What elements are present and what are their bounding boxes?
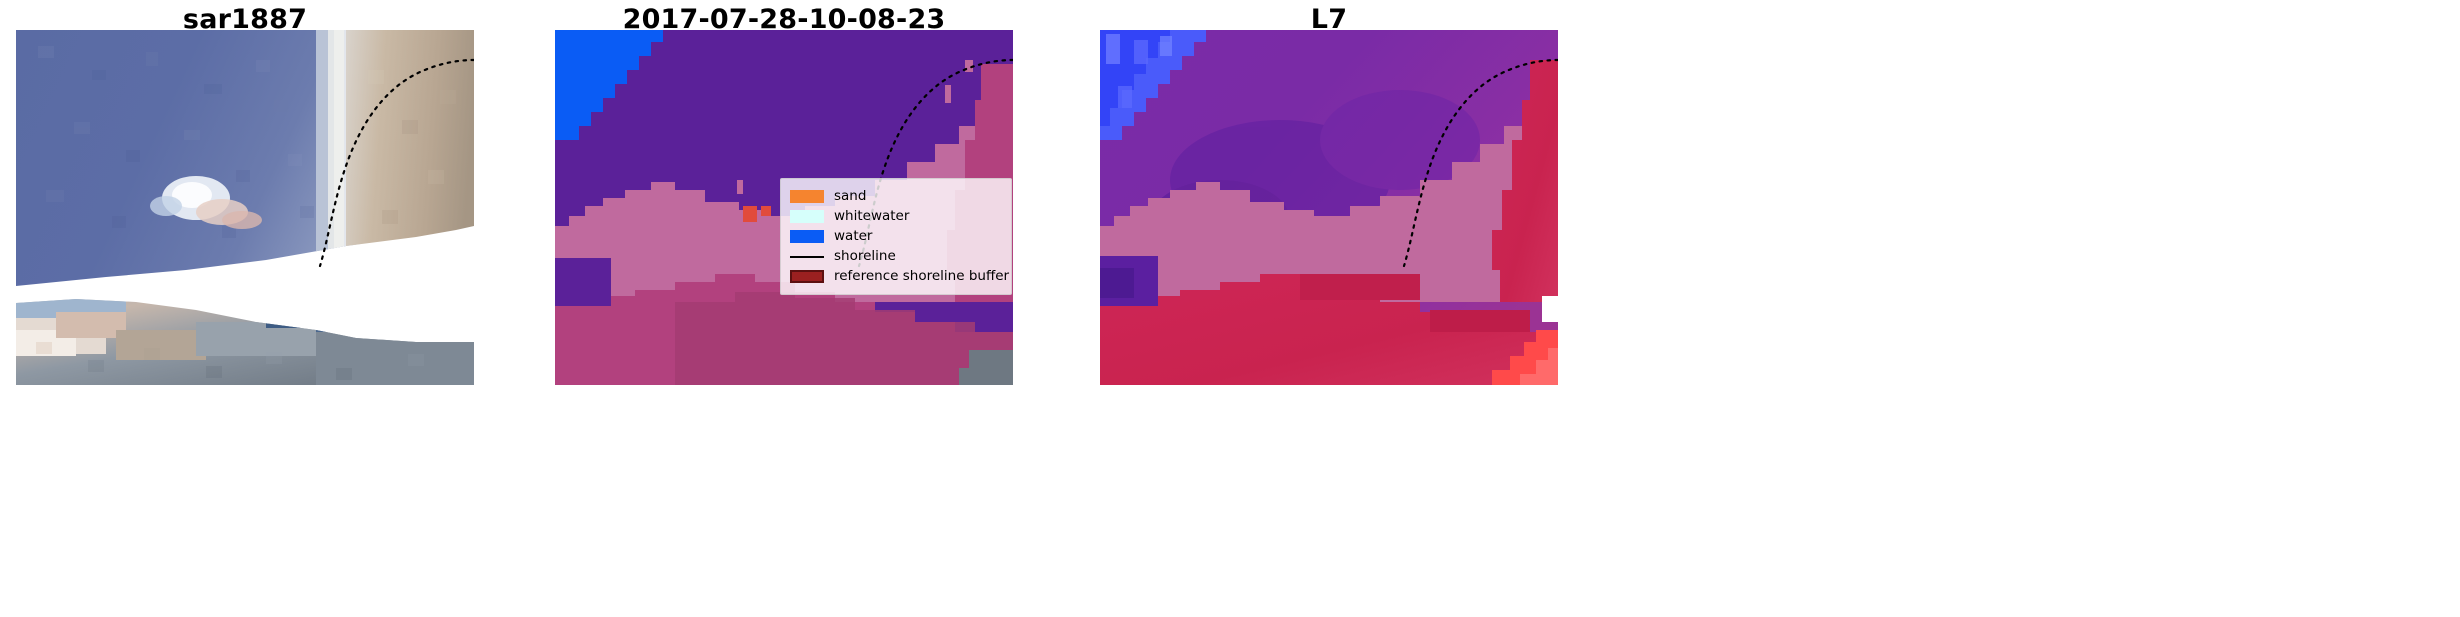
legend-item-shoreline: shoreline xyxy=(790,247,1003,266)
satellite-image-1 xyxy=(16,30,474,385)
figure-root: sar1887 xyxy=(0,0,2460,617)
legend-item-water: water xyxy=(790,227,1003,246)
nodata-notch-3 xyxy=(1542,296,1558,322)
legend-swatch-shoreline xyxy=(790,256,824,258)
legend-label-sand: sand xyxy=(834,189,866,204)
legend-item-sand: sand xyxy=(790,187,1003,206)
sand-pixel-a xyxy=(743,206,757,222)
image-axes-1 xyxy=(16,30,474,385)
legend-label-buffer: reference shoreline buffer xyxy=(834,269,1009,284)
isolated-pink-pixel-top2 xyxy=(945,85,951,103)
false-color-image-3 xyxy=(1100,30,1558,385)
legend-item-whitewater: whitewater xyxy=(790,207,1003,226)
legend-box: sand whitewater water shoreline referenc… xyxy=(780,178,1012,295)
image-axes-3 xyxy=(1100,30,1558,385)
purple-patch-left-3 xyxy=(1100,256,1158,306)
panel-sar1887: sar1887 xyxy=(16,0,474,617)
legend-swatch-whitewater xyxy=(790,210,824,223)
legend-swatch-sand xyxy=(790,190,824,203)
legend-item-buffer: reference shoreline buffer xyxy=(790,267,1003,286)
legend-label-shoreline: shoreline xyxy=(834,249,896,264)
isolated-pink-pixel xyxy=(737,180,743,194)
sand-pixel-b xyxy=(761,206,771,216)
legend-swatch-buffer xyxy=(790,270,824,283)
panel-classified: 2017-07-28-10-08-23 xyxy=(555,0,1013,617)
legend-label-whitewater: whitewater xyxy=(834,209,909,224)
legend-swatch-water xyxy=(790,230,824,243)
purple-patch-left xyxy=(555,258,611,306)
legend-label-water: water xyxy=(834,229,872,244)
panel-l7: L7 xyxy=(1100,0,1558,617)
